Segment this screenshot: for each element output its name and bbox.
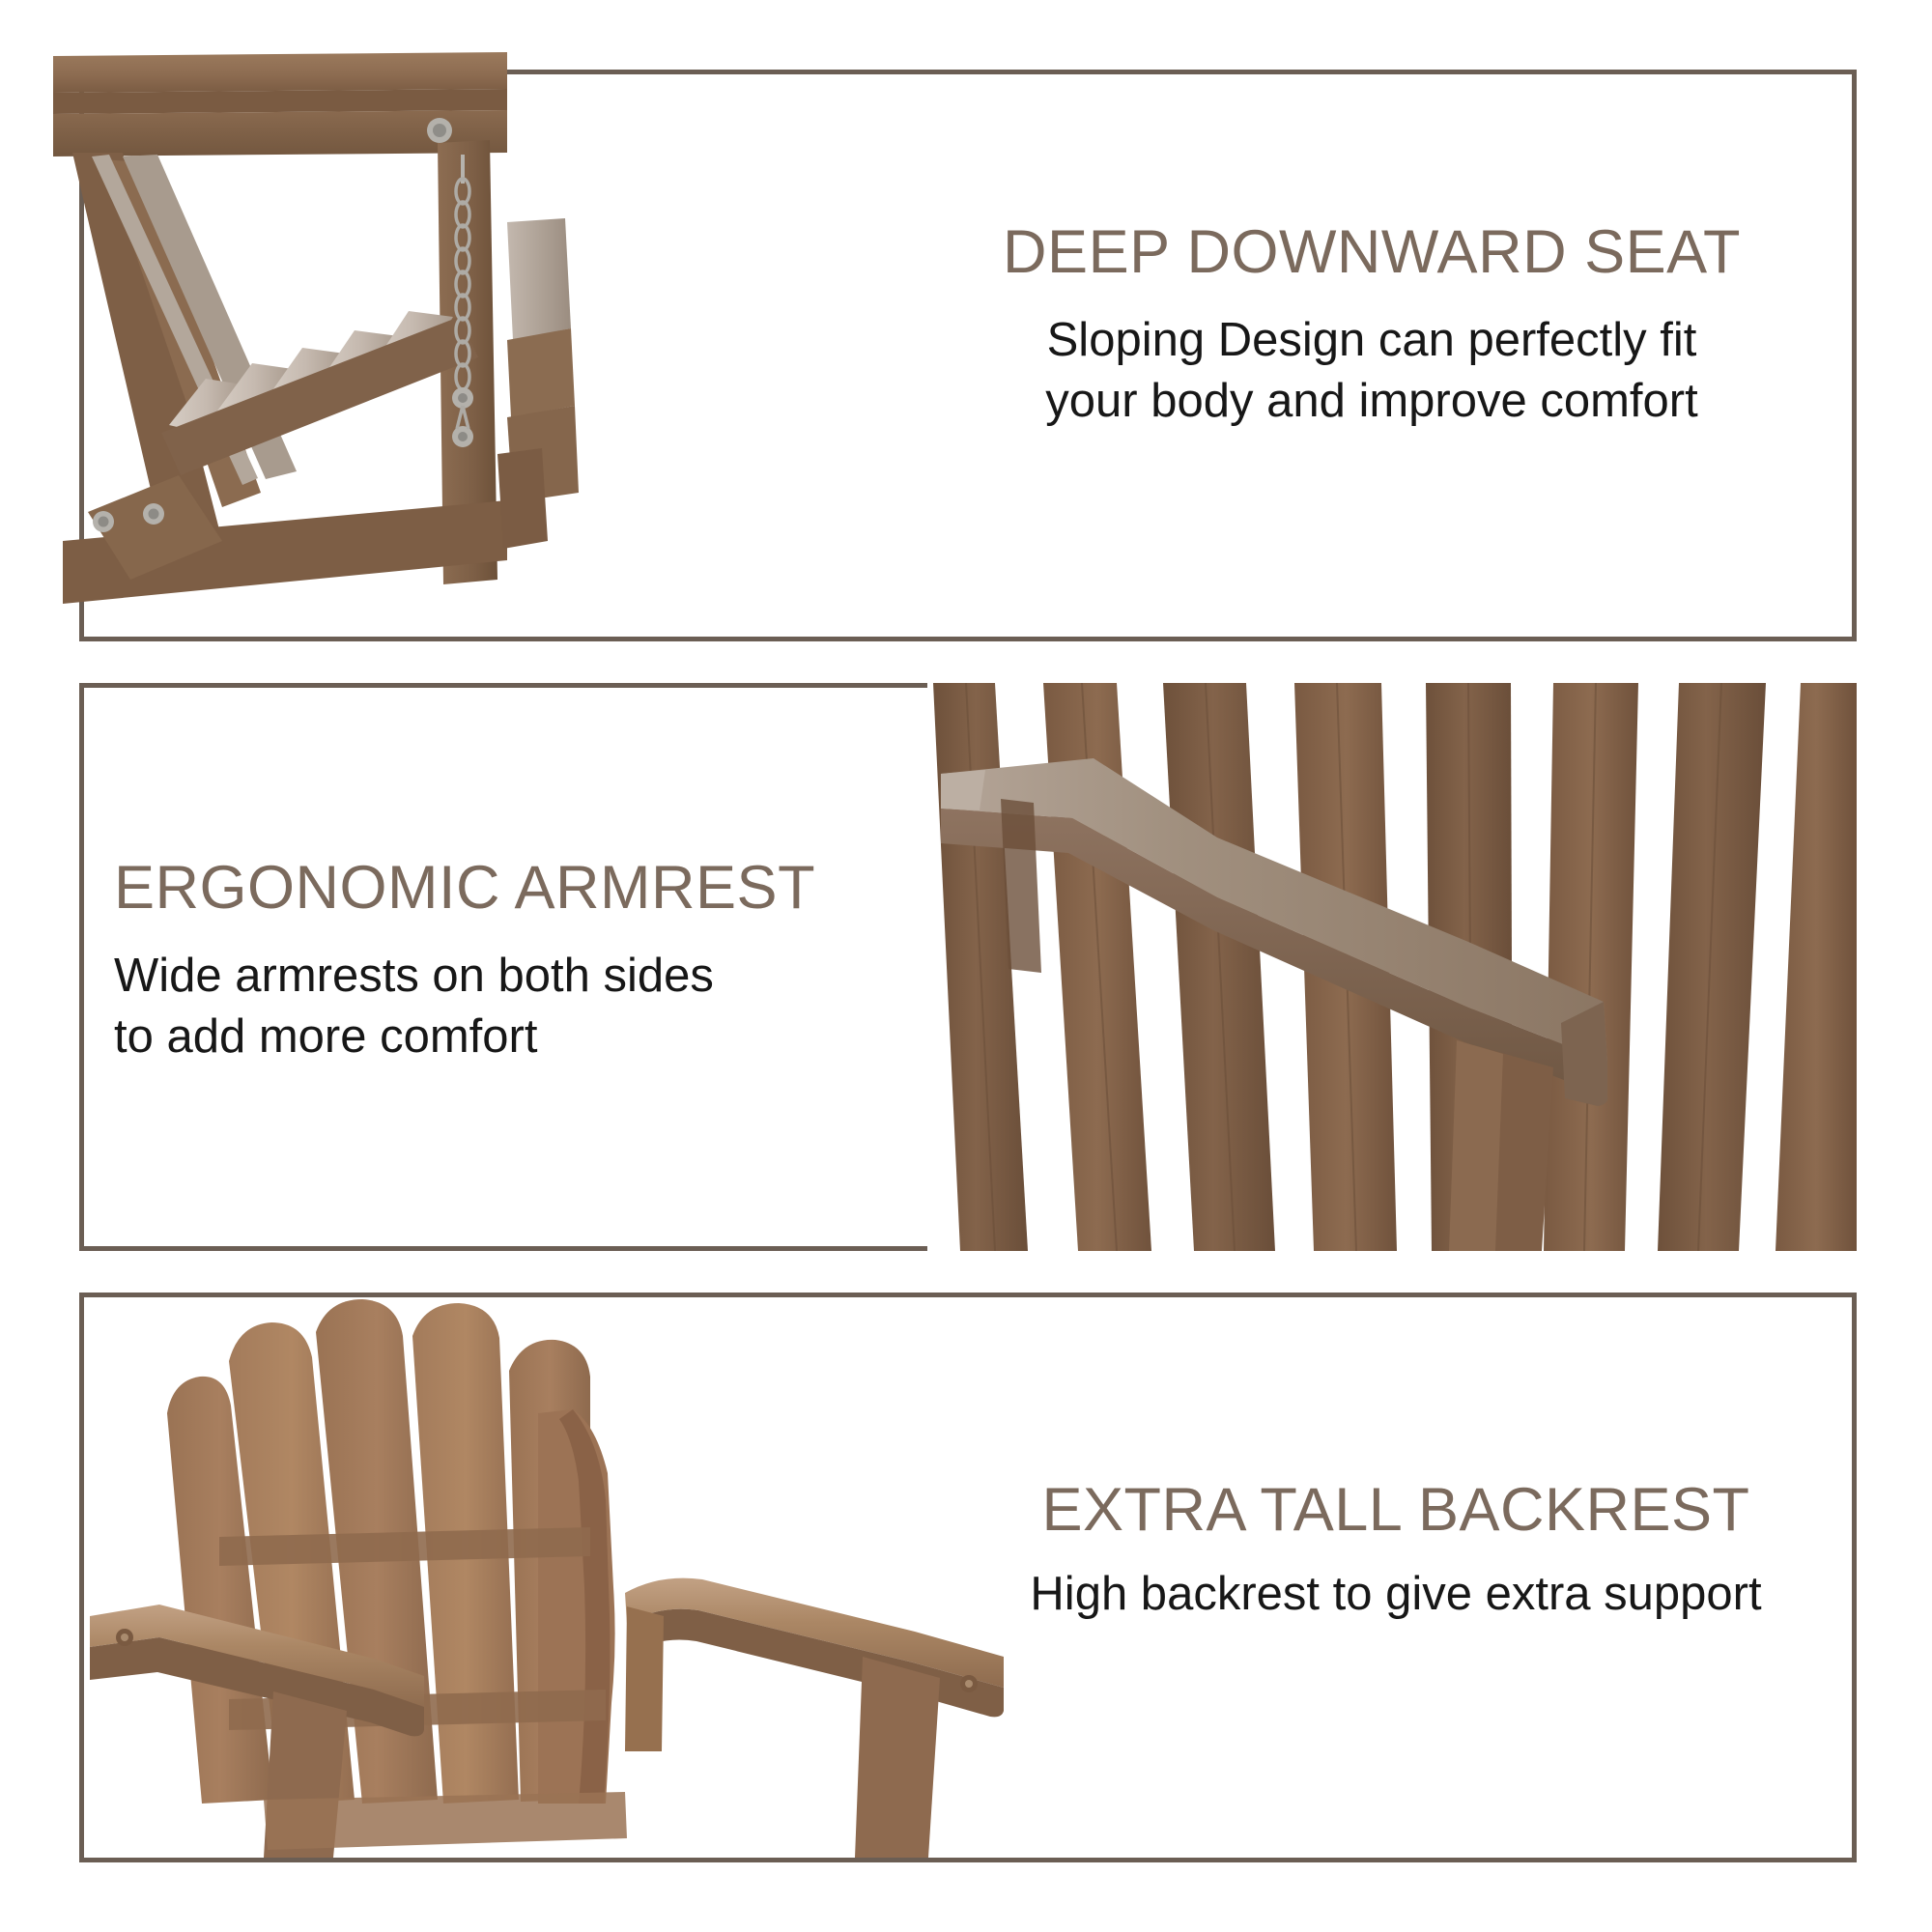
panel-2-description: Wide armrests on both sides to add more … [114,946,848,1068]
chair-tall-backrest-photo [84,1297,1050,1858]
panel-2-description-line-2: to add more comfort [114,1007,848,1068]
panel-1-description-line-2: your body and improve comfort [908,371,1835,433]
panel-2-title: ERGONOMIC ARMREST [114,856,848,921]
panel-1-description: Sloping Design can perfectly fit your bo… [908,310,1835,433]
panel-3-description: High backrest to give extra support [976,1564,1816,1626]
feature-infographic: DEEP DOWNWARD SEAT Sloping Design can pe… [0,0,1932,1932]
chair-seat-side-view-photo [53,39,971,657]
panel-3-text-block: EXTRA TALL BACKREST High backrest to giv… [976,1478,1816,1625]
panel-3-title: EXTRA TALL BACKREST [976,1478,1816,1543]
panel-2-text-block: ERGONOMIC ARMREST Wide armrests on both … [114,856,848,1068]
panel-1-title: DEEP DOWNWARD SEAT [908,220,1835,285]
chair-armrest-closeup-photo [927,683,1857,1251]
panel-3-description-line-1: High backrest to give extra support [976,1564,1816,1626]
panel-1-description-line-1: Sloping Design can perfectly fit [908,310,1835,372]
panel-1-text-block: DEEP DOWNWARD SEAT Sloping Design can pe… [908,220,1835,433]
panel-2-description-line-1: Wide armrests on both sides [114,946,848,1008]
